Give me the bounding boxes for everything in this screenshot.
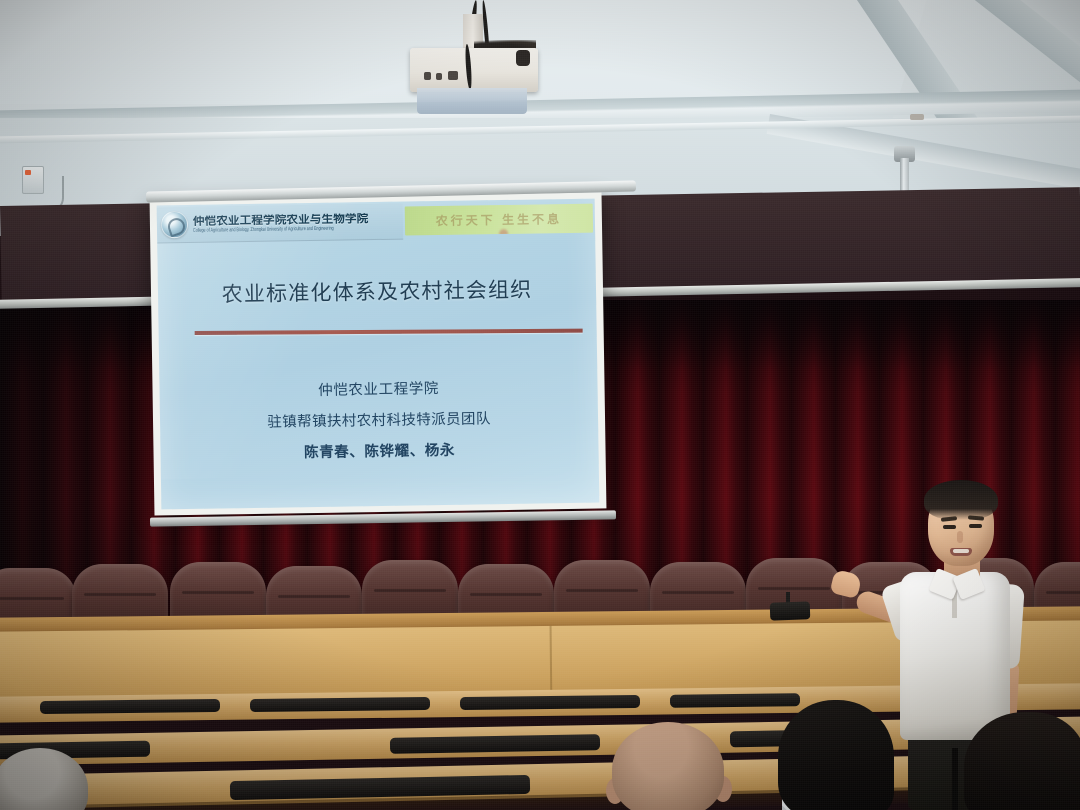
presenter-teeth bbox=[953, 549, 969, 553]
bench-seat-pad bbox=[460, 695, 640, 710]
microphone-icon[interactable] bbox=[770, 601, 811, 620]
presenter-hair bbox=[924, 480, 998, 520]
presenter-leg-separation bbox=[952, 748, 958, 810]
slide-header-banner: 农行天下 生生不息 bbox=[405, 204, 593, 236]
banner-dot bbox=[499, 229, 508, 236]
projector-adjust-knob[interactable] bbox=[516, 50, 530, 66]
presenter-nose bbox=[957, 531, 963, 543]
projector-port bbox=[436, 73, 442, 80]
subtitle-line-3: 陈青春、陈铧耀、杨永 bbox=[160, 437, 598, 465]
audience-member-short-hair bbox=[612, 722, 724, 810]
wall-sensor-led bbox=[25, 170, 31, 175]
projector-port bbox=[424, 72, 431, 80]
presenter-eye bbox=[969, 524, 982, 528]
slide-title: 农业标准化体系及农村社会组织 bbox=[158, 273, 596, 310]
projector-lens-icon bbox=[417, 88, 527, 114]
lecture-hall-photo: 仲恺农业工程学院农业与生物学院 College of Agriculture a… bbox=[0, 0, 1080, 810]
slide-header-institution: 仲恺农业工程学院农业与生物学院 College of Agriculture a… bbox=[157, 204, 404, 244]
subtitle-line-2: 驻镇帮镇扶村农村科技特派员团队 bbox=[160, 406, 598, 434]
presenter-eye bbox=[943, 525, 956, 529]
bench-seat-pad bbox=[250, 697, 430, 712]
presentation-slide: 仲恺农业工程学院农业与生物学院 College of Agriculture a… bbox=[157, 199, 600, 510]
audience-member-long-hair-1 bbox=[778, 700, 894, 810]
subtitle-line-1: 仲恺农业工程学院 bbox=[159, 375, 597, 403]
banner-slogan: 农行天下 生生不息 bbox=[436, 210, 563, 229]
slide-subtitle-block: 仲恺农业工程学院 驻镇帮镇扶村农村科技特派员团队 陈青春、陈铧耀、杨永 bbox=[159, 375, 598, 465]
slide-header: 仲恺农业工程学院农业与生物学院 College of Agriculture a… bbox=[157, 201, 596, 244]
slide-header-titles: 仲恺农业工程学院农业与生物学院 College of Agriculture a… bbox=[193, 213, 369, 233]
bench-seat-pad bbox=[670, 693, 800, 708]
audience-member-long-hair-2 bbox=[964, 712, 1080, 810]
projection-screen: 仲恺农业工程学院农业与生物学院 College of Agriculture a… bbox=[150, 192, 607, 515]
institution-name-en: College of Agriculture and Biology, Zhon… bbox=[193, 226, 369, 233]
projector-vent bbox=[910, 114, 924, 120]
bench-seat-pad bbox=[40, 699, 220, 714]
slide-divider-rule bbox=[195, 329, 583, 335]
projector-port bbox=[448, 71, 458, 80]
zhongkai-university-logo-icon bbox=[161, 211, 188, 238]
